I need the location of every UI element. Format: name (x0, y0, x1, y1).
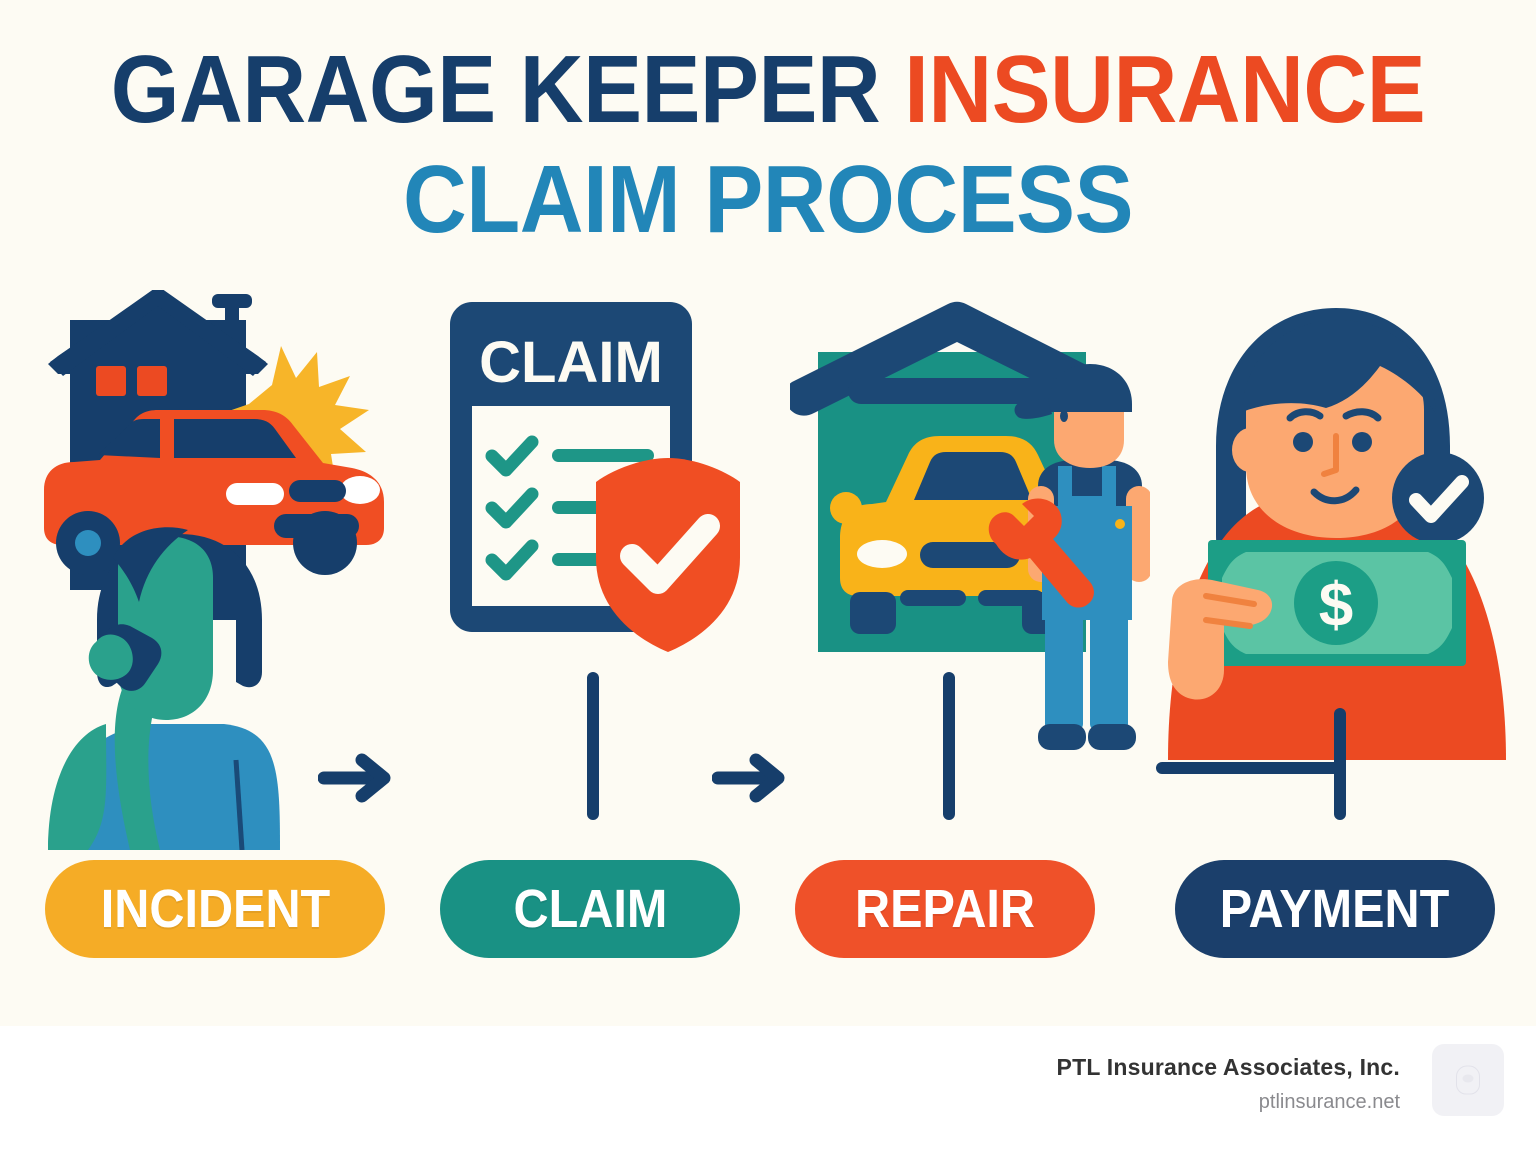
step-repair: REPAIR (790, 290, 1130, 850)
page-title: GARAGE KEEPER INSURANCE CLAIM PROCESS (0, 42, 1536, 248)
connector-stem-payment (1334, 708, 1346, 820)
process-stage: INCIDENT CLAIM (0, 290, 1536, 890)
step-label-payment[interactable]: PAYMENT (1175, 860, 1495, 958)
logo-placeholder-icon (1456, 1066, 1480, 1095)
garage-mechanic-illustration (790, 290, 1150, 790)
company-name: PTL Insurance Associates, Inc. (1057, 1054, 1400, 1081)
connector-stem-claim (587, 672, 599, 820)
arrow-right-icon-1 (318, 748, 398, 808)
step-label-claim[interactable]: CLAIM (440, 860, 740, 958)
step-label-repair[interactable]: REPAIR (795, 860, 1095, 958)
payout-woman-banknote-illustration: $ (1150, 290, 1510, 760)
arrow-right-icon-2 (712, 748, 792, 808)
title-line1-primary: GARAGE KEEPER (111, 36, 904, 143)
connector-horizontal-payment (1156, 762, 1346, 774)
claim-doc-header: CLAIM (479, 330, 663, 395)
title-line2: CLAIM PROCESS (403, 146, 1133, 253)
title-line1-accent: INSURANCE (904, 36, 1425, 143)
infographic-panel: GARAGE KEEPER INSURANCE CLAIM PROCESS (0, 0, 1536, 1026)
company-website: ptlinsurance.net (1259, 1091, 1400, 1114)
step-label-incident[interactable]: INCIDENT (45, 860, 385, 958)
connector-stem-repair (943, 672, 955, 820)
footer-bar: PTL Insurance Associates, Inc. ptlinsura… (0, 1026, 1536, 1154)
step-payment: $ PAYMENT (1150, 290, 1500, 850)
claim-document-shield-illustration: CLAIM (440, 290, 770, 710)
dollar-symbol: $ (1319, 571, 1353, 640)
company-logo-placeholder (1432, 1044, 1504, 1116)
